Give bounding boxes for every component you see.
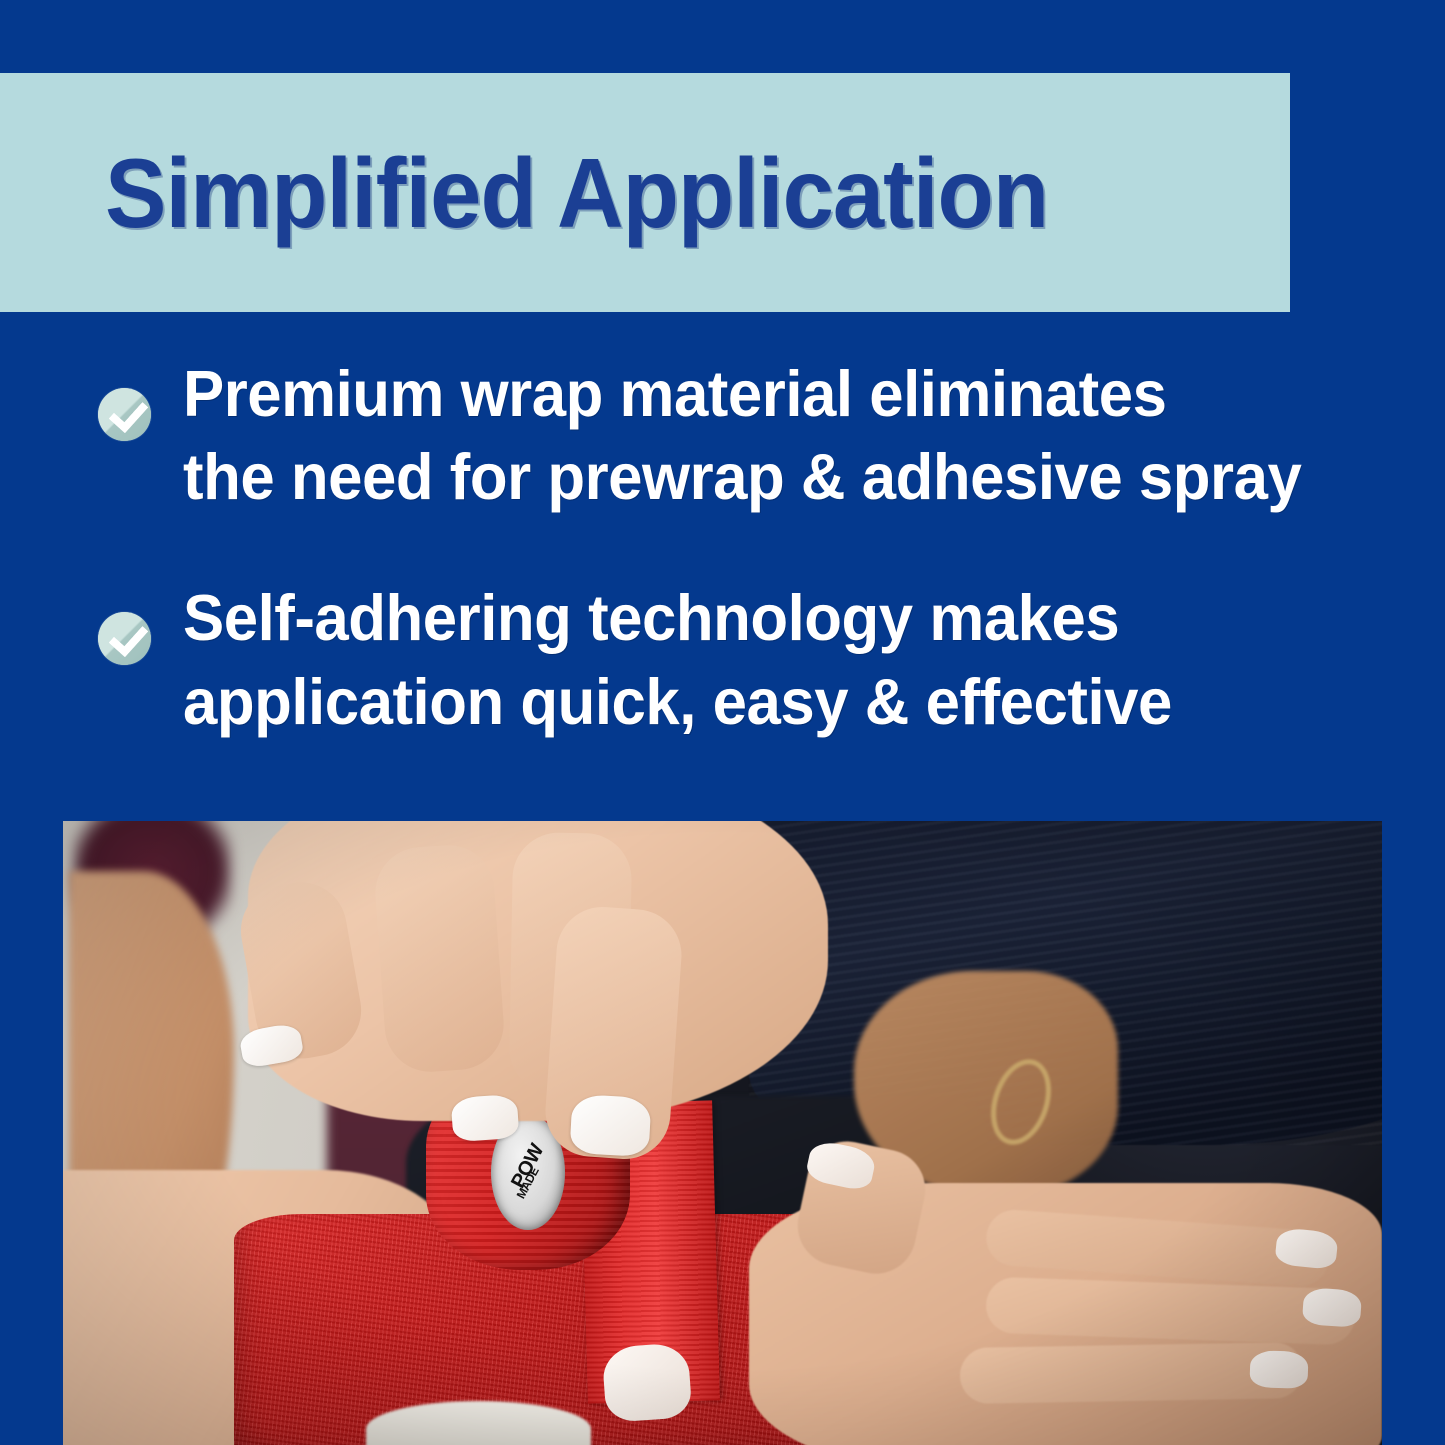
practitioner-index-nail <box>569 1094 651 1157</box>
product-feature-card: { "card": { "background_color": "#04398e… <box>0 0 1445 1445</box>
practitioner-finger <box>372 842 506 1074</box>
feature-list: Premium wrap material eliminates the nee… <box>0 352 1445 743</box>
check-circle-icon <box>98 388 151 441</box>
list-item: Self-adhering technology makes applicati… <box>0 576 1445 742</box>
practitioner-fingernail <box>451 1093 520 1141</box>
product-photo: POW MADE <box>63 821 1382 1445</box>
photo-scene: POW MADE <box>63 821 1382 1445</box>
list-item: Premium wrap material eliminates the nee… <box>0 352 1445 518</box>
header-band: Simplified Application <box>0 73 1290 312</box>
patient-fingernail <box>1249 1350 1308 1389</box>
page-title: Simplified Application <box>105 144 1048 242</box>
practitioner-thumbnail-lower <box>601 1342 692 1423</box>
feature-text: Premium wrap material eliminates the nee… <box>183 352 1301 518</box>
feature-text: Self-adhering technology makes applicati… <box>183 576 1172 742</box>
patient-fingernail <box>1302 1287 1363 1328</box>
checkmark-glyph <box>109 617 149 658</box>
check-circle-icon <box>98 612 151 665</box>
checkmark-glyph <box>109 393 149 434</box>
